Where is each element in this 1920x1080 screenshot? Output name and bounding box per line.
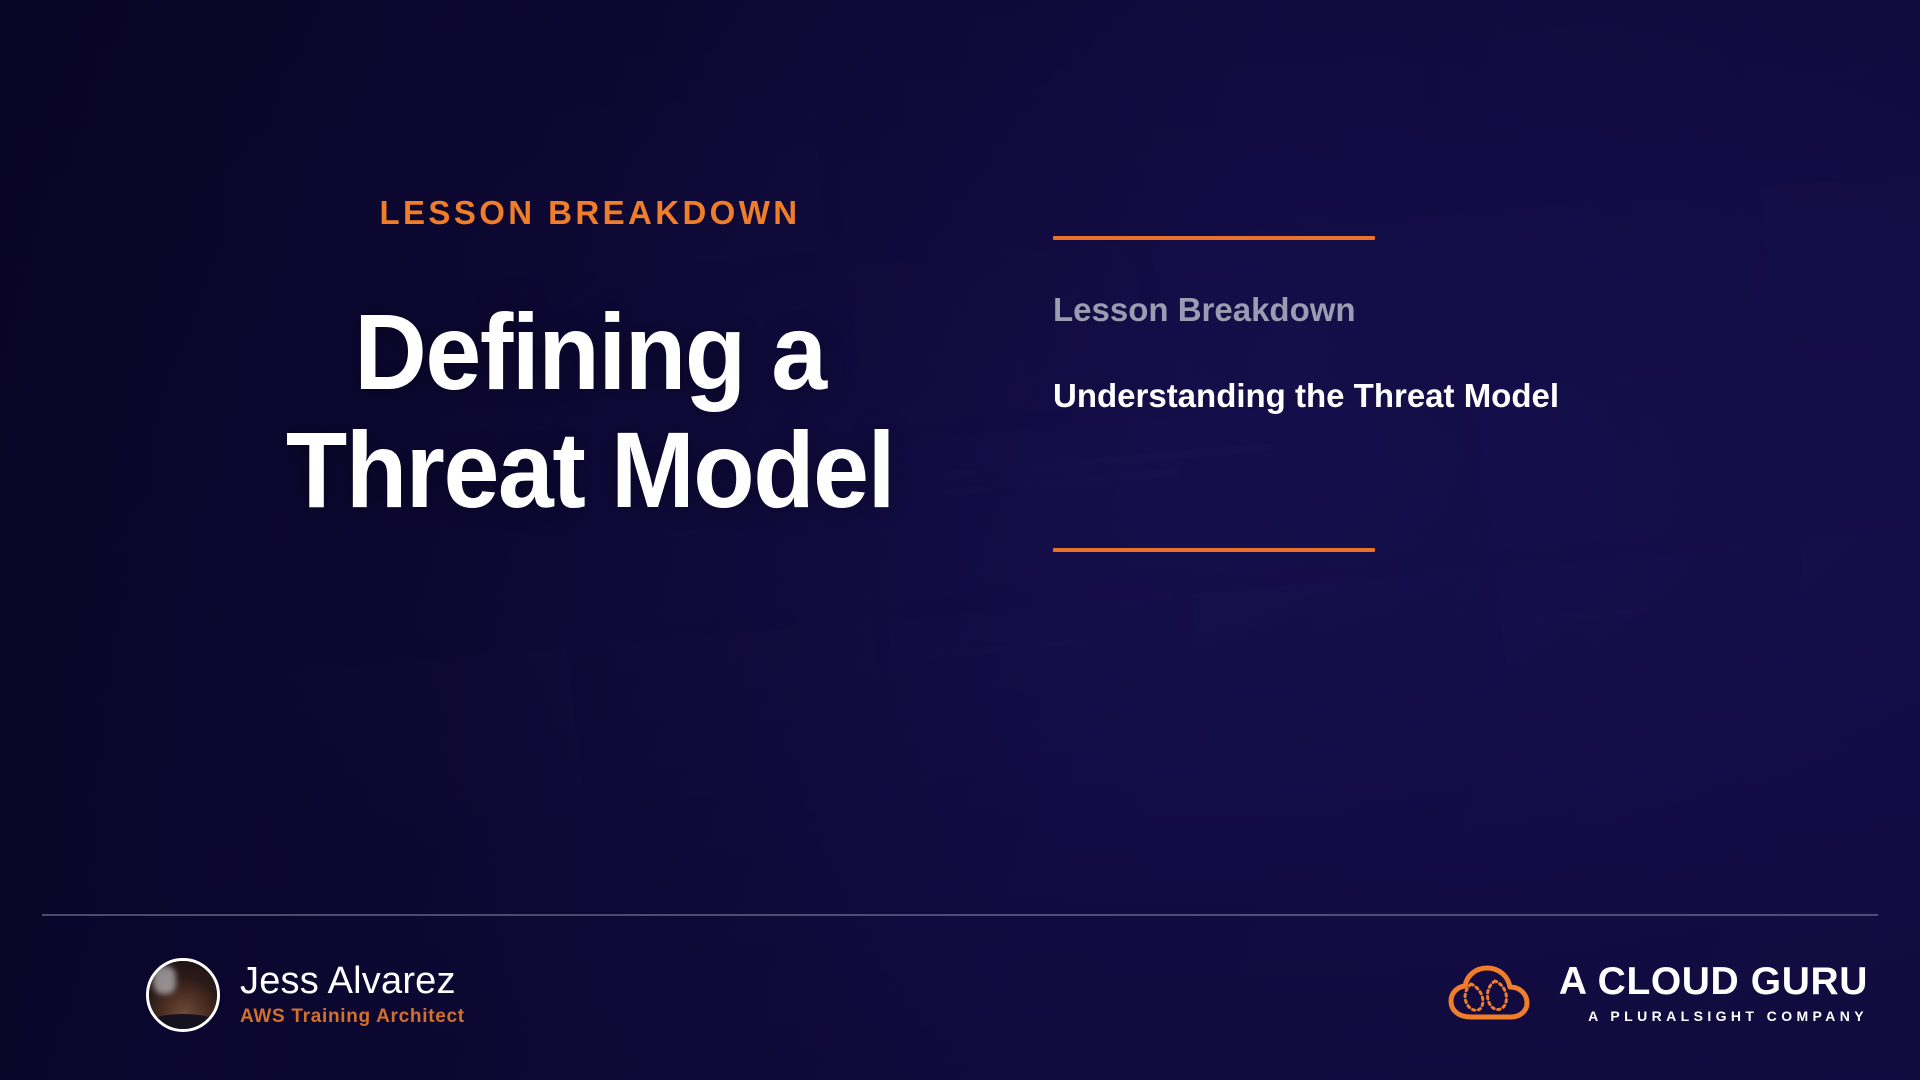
brand-logo: A CLOUD GURU A PLURALSIGHT COMPANY — [1447, 962, 1868, 1023]
agenda-item-lesson-breakdown: Lesson Breakdown — [1053, 293, 1753, 326]
agenda-rule-bottom — [1053, 548, 1375, 552]
presenter-role: AWS Training Architect — [240, 1006, 465, 1028]
avatar — [146, 958, 220, 1032]
eyebrow-label: LESSON BREAKDOWN — [120, 196, 1060, 229]
slide-content: LESSON BREAKDOWN Defining a Threat Model… — [0, 0, 1920, 1080]
brand-text: A CLOUD GURU A PLURALSIGHT COMPANY — [1559, 962, 1868, 1023]
footer-divider — [42, 914, 1878, 916]
lesson-slide: LESSON BREAKDOWN Defining a Threat Model… — [0, 0, 1920, 1080]
brand-tagline: A PLURALSIGHT COMPANY — [1559, 1009, 1868, 1023]
agenda-panel: Lesson Breakdown Understanding the Threa… — [1053, 236, 1753, 412]
agenda-rule-top — [1053, 236, 1375, 240]
page-title: Defining a Threat Model — [153, 293, 1027, 528]
presenter-text: Jess Alvarez AWS Training Architect — [240, 962, 465, 1029]
brand-name: A CLOUD GURU — [1559, 962, 1868, 1001]
presenter-block: Jess Alvarez AWS Training Architect — [146, 958, 465, 1032]
agenda-item-understanding-the-threat-model: Understanding the Threat Model — [1053, 379, 1753, 412]
page-title-line-1: Defining a — [354, 291, 826, 412]
presenter-name: Jess Alvarez — [240, 962, 465, 1002]
page-title-line-2: Threat Model — [153, 411, 1027, 529]
cloud-guru-logo-icon — [1447, 964, 1539, 1022]
title-block: LESSON BREAKDOWN Defining a Threat Model — [120, 196, 1060, 528]
